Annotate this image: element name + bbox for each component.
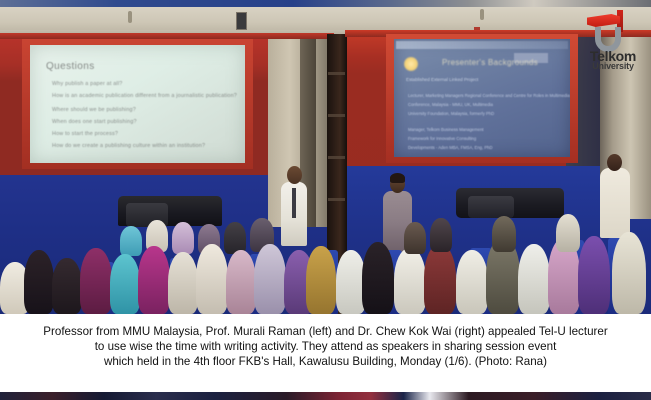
telkom-university-logo: Telkom University	[583, 10, 643, 72]
ceiling-hook-icon	[480, 9, 484, 20]
audience-member	[254, 244, 286, 314]
right-slide-item: University Foundation, Malaysia, formerl…	[408, 111, 494, 116]
right-slide-topbar	[396, 41, 568, 49]
standing-attendee-body	[600, 168, 630, 238]
left-slide-item: How do we create a publishing culture wi…	[52, 143, 205, 149]
audience-member	[80, 248, 112, 314]
right-projection-screen: Presenter's Backgrounds Established Exte…	[394, 39, 570, 157]
right-slide-sun-icon	[404, 57, 418, 71]
audience-member	[424, 244, 456, 314]
left-lecturer-tie	[292, 188, 296, 218]
divider-ledge	[328, 72, 345, 75]
left-projection-screen: Questions Why publish a paper at all? Ho…	[30, 45, 245, 163]
audience-member	[226, 250, 256, 314]
left-lecturer-head	[287, 166, 302, 184]
wall-speaker-box	[236, 12, 247, 30]
right-slide-item: Lecturer, Marketing Managers Regional Co…	[408, 93, 570, 98]
right-slide-item: Manager, Telkom Business Management	[408, 127, 484, 132]
audience-member	[138, 246, 170, 314]
audience-member	[430, 218, 452, 252]
news-photo-card: Questions Why publish a paper at all? Ho…	[0, 0, 651, 400]
audience-member	[612, 232, 646, 314]
logo-university-text: University	[583, 61, 643, 71]
left-slide-item: Where should we be publishing?	[52, 107, 136, 113]
logo-red-ribbon-icon	[587, 14, 620, 27]
audience-member	[306, 246, 336, 314]
ceiling-hook-icon	[128, 11, 132, 23]
left-slide-item: Why publish a paper at all?	[52, 81, 122, 87]
audience-member	[456, 250, 488, 314]
right-stage-sofa-seat	[468, 196, 514, 218]
divider-ledge	[328, 198, 345, 201]
left-slide-item: When does one start publishing?	[52, 119, 137, 125]
divider-ledge	[328, 156, 345, 159]
right-slide-subtitle: Established External Linked Project	[406, 77, 478, 82]
audience-member	[394, 248, 426, 314]
audience-member	[492, 216, 516, 252]
right-slide-item: Developments - Aden MBA, FMSA, Eng, PhD	[408, 145, 492, 150]
audience-member	[518, 244, 550, 314]
divider-ledge	[328, 114, 345, 117]
audience-member	[168, 252, 198, 314]
audience-member	[110, 254, 140, 314]
audience-member	[196, 244, 228, 314]
audience-member	[362, 242, 394, 314]
bottom-image-strip	[0, 392, 651, 400]
photo-caption: Professor from MMU Malaysia, Prof. Mural…	[0, 314, 651, 393]
audience-member	[556, 214, 580, 252]
audience-member	[24, 250, 54, 314]
left-slide-item: How is an academic publication different…	[52, 93, 237, 99]
caption-line-2: to use wise the time with writing activi…	[0, 339, 651, 355]
audience-member	[52, 258, 82, 314]
right-slide-item: Conference, Malaysia - MMU, UK, Multimed…	[408, 102, 493, 107]
left-slide-title: Questions	[46, 61, 95, 72]
audience-member	[120, 226, 142, 256]
right-speaker-hair	[390, 173, 405, 183]
right-slide-item: Framework for Innovative Consulting	[408, 136, 476, 141]
right-slide-title: Presenter's Backgrounds	[442, 58, 538, 67]
audience-member	[578, 236, 610, 314]
caption-line-1: Professor from MMU Malaysia, Prof. Mural…	[0, 324, 651, 340]
audience-member	[404, 222, 426, 254]
caption-line-3: which held in the 4th floor FKB's Hall, …	[0, 354, 651, 370]
left-slide-item: How to start the process?	[52, 131, 118, 137]
standing-attendee-head	[607, 154, 622, 171]
audience-member	[172, 222, 194, 254]
photo-composite: Questions Why publish a paper at all? Ho…	[0, 0, 651, 314]
